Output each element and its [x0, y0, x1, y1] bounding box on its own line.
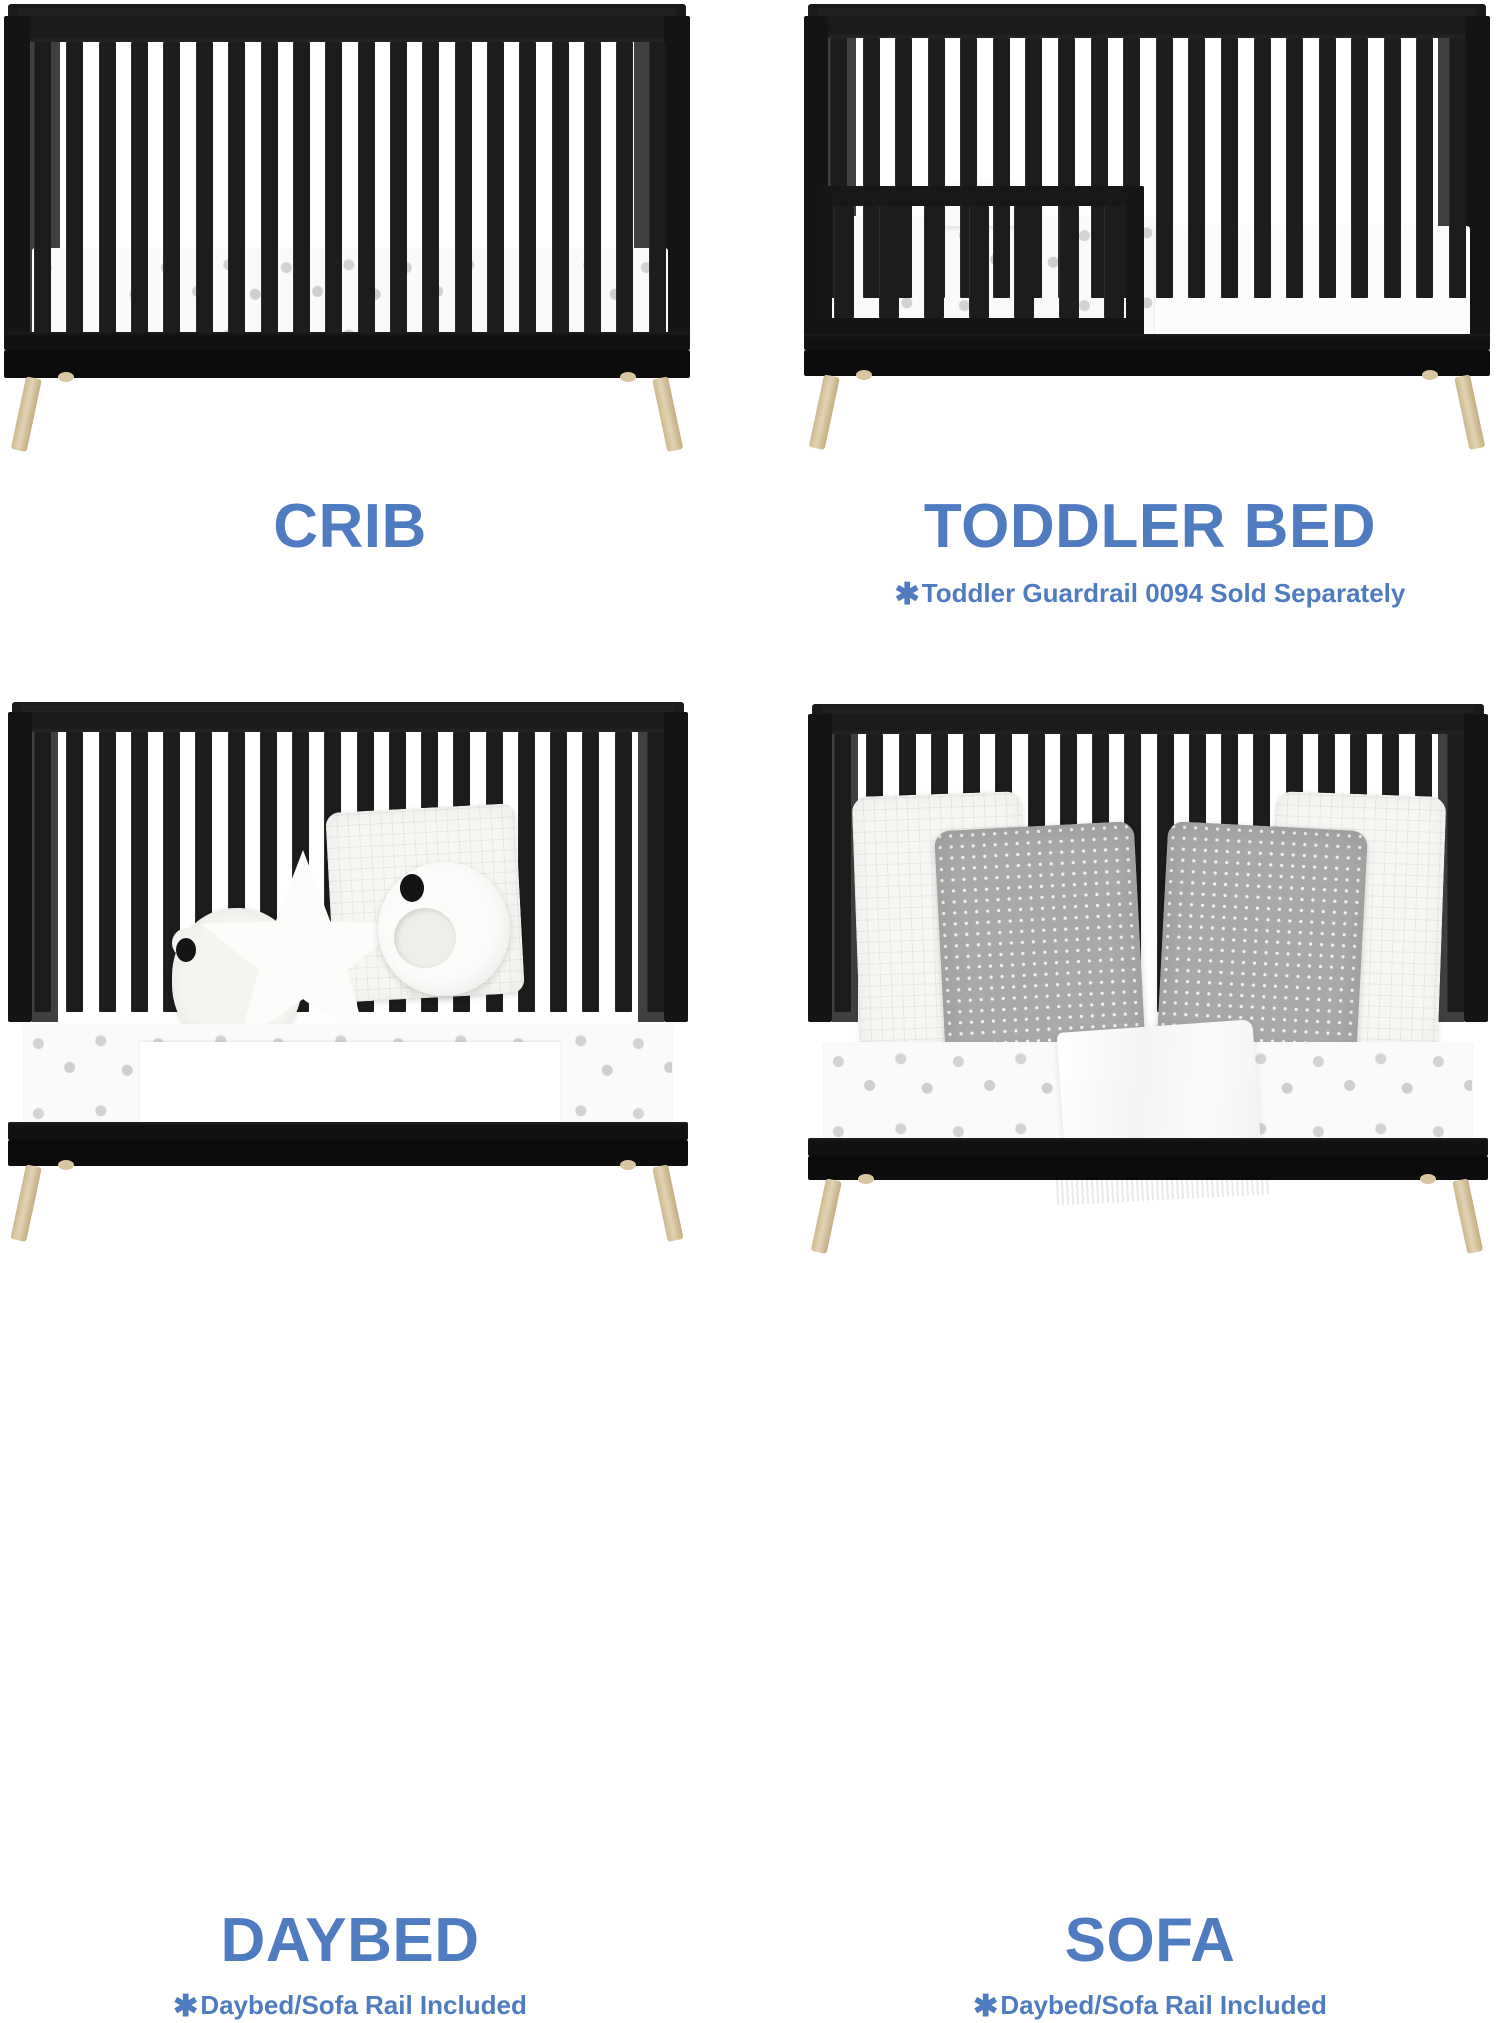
asterisk-icon: ✱: [173, 1990, 200, 2023]
panel-crib: CRIB: [0, 0, 700, 470]
daybed-bear-eye: [176, 938, 196, 962]
panel-daybed-note: ✱Daybed/Sofa Rail Included: [0, 1992, 700, 2022]
crib-top-rail-front: [4, 16, 690, 42]
sofa-left-post: [808, 714, 832, 1022]
toddler-leg-cap-right: [1422, 370, 1438, 380]
panel-toddler-bed-title: TODDLER BED: [800, 496, 1500, 558]
toddler-leg-cap-left: [856, 370, 872, 380]
sofa-illustration: [800, 690, 1500, 1140]
conversion-chart: CRIB: [0, 0, 1500, 1345]
panel-toddler-bed-note-text: Toddler Guardrail 0094 Sold Separately: [922, 578, 1406, 608]
daybed-leg-cap-right: [620, 1160, 636, 1170]
guardrail-right-post: [1126, 186, 1144, 338]
toddler-top-rail-front: [804, 16, 1490, 38]
asterisk-icon: ✱: [973, 1990, 1000, 2023]
sofa-base-rail-upper: [808, 1138, 1488, 1156]
toddler-base-rail-upper: [804, 334, 1490, 350]
toddler-leg-front-right: [1454, 374, 1485, 450]
toddler-bed-illustration: [800, 0, 1500, 440]
guardrail-slats: [834, 206, 1124, 318]
sofa-leg-cap-left: [858, 1174, 874, 1184]
panel-sofa-note: ✱Daybed/Sofa Rail Included: [800, 1992, 1500, 2022]
toddler-base-rail-lower: [804, 350, 1490, 376]
panel-sofa-note-text: Daybed/Sofa Rail Included: [1000, 1990, 1327, 2020]
daybed-illustration: [0, 690, 700, 1140]
sofa-leg-front-right: [1452, 1178, 1483, 1254]
panel-toddler-bed: TODDLER BED ✱Toddler Guardrail 0094 Sold…: [800, 0, 1500, 470]
sofa-base-rail-lower: [808, 1156, 1488, 1180]
panel-daybed-title: DAYBED: [0, 1910, 700, 1972]
daybed-top-rail-front: [8, 712, 688, 732]
crib-leg-cap-left: [58, 372, 74, 382]
toddler-guardrail: [814, 186, 1144, 338]
toddler-leg-front-left: [809, 374, 840, 450]
crib-leg-front-left: [11, 376, 42, 452]
crib-leg-front-right: [652, 376, 683, 452]
daybed-moon-eye: [400, 874, 424, 902]
panel-daybed-note-text: Daybed/Sofa Rail Included: [200, 1990, 527, 2020]
guardrail-top-rail: [814, 186, 1144, 206]
crib-base-rail-lower: [4, 350, 690, 378]
daybed-right-post: [664, 712, 688, 1022]
sofa-right-post: [1464, 714, 1488, 1022]
panel-toddler-bed-note: ✱Toddler Guardrail 0094 Sold Separately: [800, 580, 1500, 610]
panel-crib-title: CRIB: [0, 496, 700, 558]
daybed-leg-cap-left: [58, 1160, 74, 1170]
panel-daybed: DAYBED ✱Daybed/Sofa Rail Included: [0, 690, 700, 1170]
panel-sofa-title: SOFA: [800, 1910, 1500, 1972]
daybed-sheet-fold: [140, 1042, 560, 1132]
crib-slats: [34, 42, 666, 338]
daybed-base-rail-lower: [8, 1140, 688, 1166]
guardrail-left-post: [814, 186, 832, 338]
daybed-leg-front-right: [652, 1164, 683, 1242]
daybed-moon-hole: [394, 908, 456, 968]
crib-illustration: [0, 0, 700, 440]
daybed-base-rail-upper: [8, 1122, 688, 1140]
daybed-left-post: [8, 712, 32, 1022]
sofa-leg-cap-right: [1420, 1174, 1436, 1184]
crib-left-post: [4, 16, 30, 336]
crib-base-rail-upper: [4, 332, 690, 350]
panel-sofa: SOFA ✱Daybed/Sofa Rail Included: [800, 690, 1500, 1170]
daybed-leg-front-left: [10, 1164, 41, 1242]
sofa-leg-front-left: [811, 1178, 842, 1254]
sofa-top-rail-front: [808, 714, 1488, 734]
asterisk-icon: ✱: [895, 578, 922, 611]
crib-leg-cap-right: [620, 372, 636, 382]
